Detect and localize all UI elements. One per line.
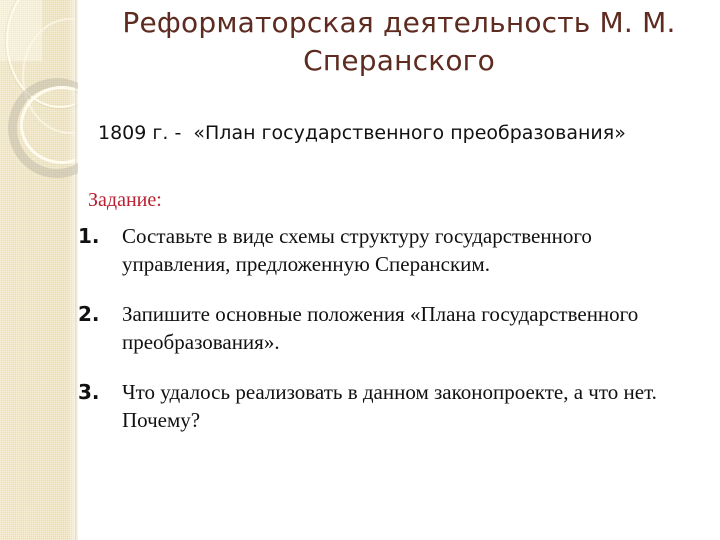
task-section-label: Задание: bbox=[88, 188, 162, 212]
list-item-text: Составьте в виде схемы структуру государ… bbox=[122, 222, 682, 278]
slide-content: Реформаторская деятельность М. М. Сперан… bbox=[78, 0, 720, 540]
list-item-number: 2. bbox=[78, 300, 108, 328]
list-item-text: Запишите основные положения «Плана госуд… bbox=[122, 300, 702, 356]
list-item-number: 1. bbox=[78, 222, 108, 250]
list-item: 2. Запишите основные положения «Плана го… bbox=[78, 300, 708, 356]
beige-textured-band bbox=[0, 0, 78, 540]
task-list: 1. Составьте в виде схемы структуру госу… bbox=[78, 222, 708, 456]
list-item: 3. Что удалось реализовать в данном зако… bbox=[78, 378, 708, 434]
page-title: Реформаторская деятельность М. М. Сперан… bbox=[96, 4, 702, 80]
list-item-text: Что удалось реализовать в данном законоп… bbox=[122, 378, 682, 434]
presentation-slide: Реформаторская деятельность М. М. Сперан… bbox=[0, 0, 720, 540]
list-item-number: 3. bbox=[78, 378, 108, 406]
list-item: 1. Составьте в виде схемы структуру госу… bbox=[78, 222, 708, 278]
slide-subtitle: 1809 г. - «План государственного преобра… bbox=[98, 121, 708, 145]
